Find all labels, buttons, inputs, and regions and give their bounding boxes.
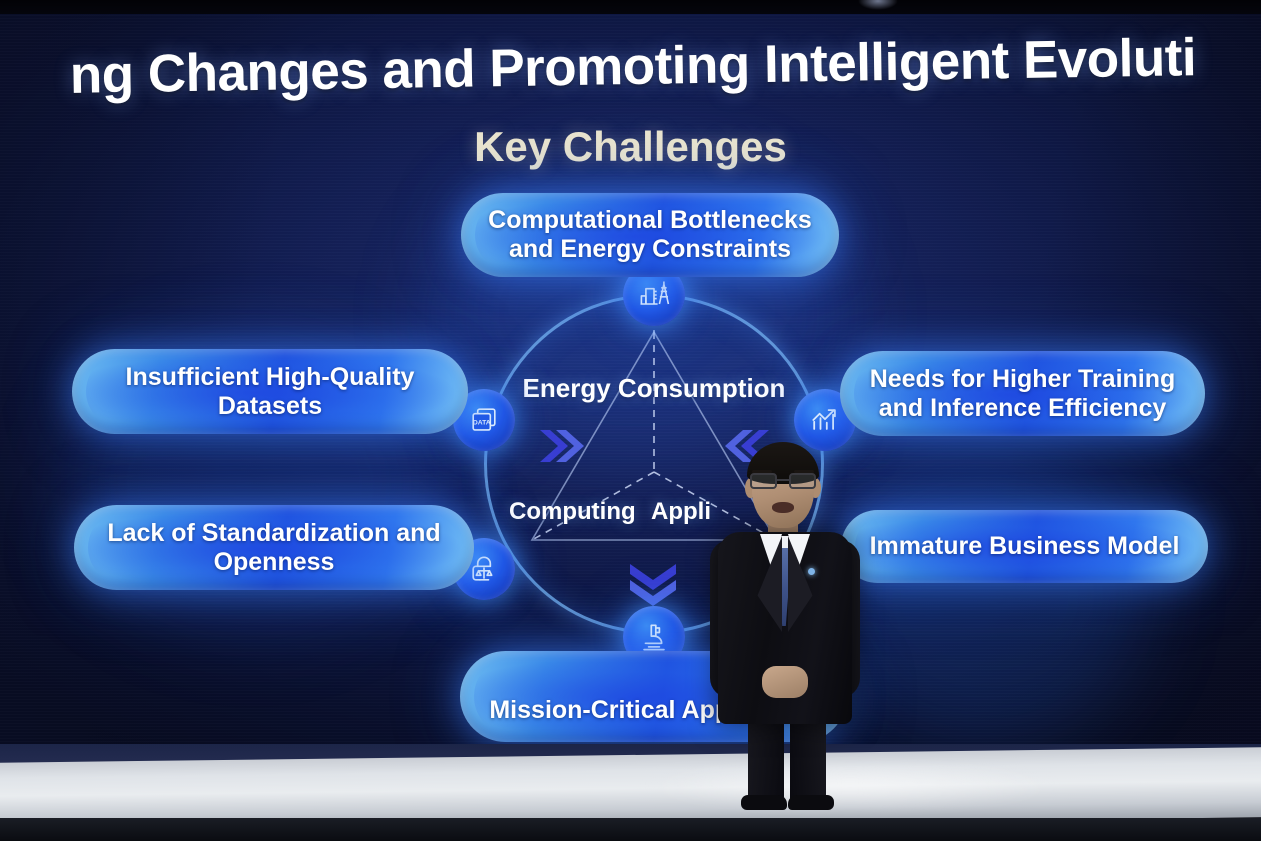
presenter-left-shoe: [741, 795, 787, 810]
presenter-left-leg: [748, 714, 784, 802]
presenter-right-leg: [790, 714, 826, 802]
center-label-energy: Energy Consumption: [484, 374, 824, 403]
challenge-pill-top[interactable]: Computational Bottlenecks and Energy Con…: [461, 193, 839, 277]
chevron-down-icon: [624, 558, 682, 610]
challenge-pill-right-top[interactable]: Needs for Higher Training and Inference …: [840, 351, 1205, 436]
ceiling-spotlight: [858, 0, 898, 10]
svg-text:DATA: DATA: [473, 420, 491, 427]
slide-subheadline: Key Challenges: [0, 123, 1261, 171]
challenge-pill-left-bottom-label: Lack of Standardization and Openness: [74, 519, 474, 577]
challenge-pill-right-bottom[interactable]: Immature Business Model: [841, 510, 1208, 583]
center-label-energy-text: Energy Consumption: [523, 373, 786, 403]
chevron-right-icon: [536, 426, 592, 466]
presenter-mouth: [772, 502, 794, 513]
presenter-hands: [762, 666, 808, 698]
challenge-pill-left-top[interactable]: Insufficient High-Quality Datasets: [72, 349, 468, 434]
challenge-pill-left-top-label: Insufficient High-Quality Datasets: [72, 363, 468, 421]
glasses-lens-left: [750, 473, 777, 489]
glasses-lens-right: [789, 473, 816, 489]
presenter: [700, 440, 890, 810]
center-label-computing: Computing: [509, 498, 636, 526]
stage-floor-edge: [0, 818, 1261, 841]
presenter-lapel-pin: [808, 568, 815, 575]
presentation-scene: ng Changes and Promoting Intelligent Evo…: [0, 0, 1261, 841]
presenter-glasses: [748, 473, 818, 489]
challenge-pill-right-top-label: Needs for Higher Training and Inference …: [840, 365, 1205, 423]
challenge-pill-right-bottom-label: Immature Business Model: [848, 532, 1202, 561]
challenge-pill-left-bottom[interactable]: Lack of Standardization and Openness: [74, 505, 474, 590]
glasses-bridge: [777, 479, 789, 481]
presenter-right-shoe: [788, 795, 834, 810]
challenge-pill-top-label: Computational Bottlenecks and Energy Con…: [461, 206, 839, 264]
